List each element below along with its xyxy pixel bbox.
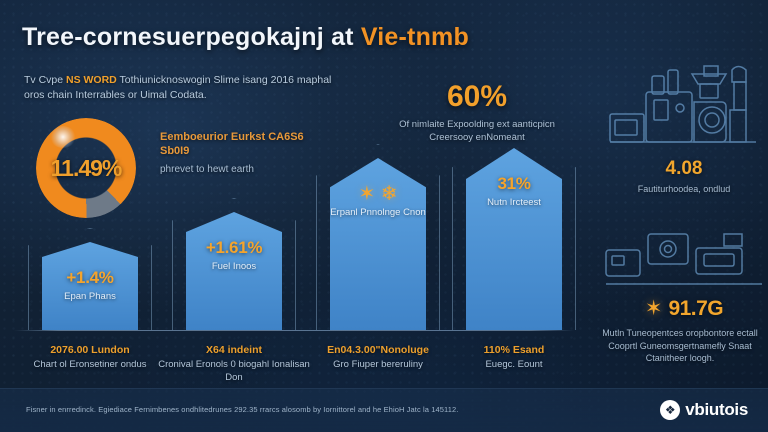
donut-caption: phrevet to hewt earth: [160, 163, 320, 177]
appliance-devices-icon: [604, 232, 764, 294]
subtitle-pre: Tv Cvpe: [24, 74, 66, 86]
stat-60-value: 60%: [392, 80, 562, 114]
right-stat-a: 4.08 Fautiturhoodea, ondlud: [604, 158, 764, 196]
bar-caption-title: 2076.00 Lundon: [12, 344, 168, 356]
bar-column: +1.61%Fuel Inoos: [186, 212, 282, 330]
page-title: Tree-cornesuerpegokajnj at Vie-tnmb: [22, 23, 469, 52]
donut-headline: Eemboeurior Eurkst CA6S6 Sb0I9: [160, 130, 320, 158]
bar-caption: En04.3.00"NonolugeGro Fiuper bereruliny: [300, 344, 456, 371]
bar-caption: X64 indeintCronival Eronols 0 biogahl Io…: [156, 344, 312, 384]
bar-caption-title: En04.3.00"Nonoluge: [300, 344, 456, 356]
bar-caption-title: 110% Esand: [436, 344, 592, 356]
bar-value: +1.61%: [206, 238, 262, 258]
bar-caption-sub: Gro Fiuper bereruliny: [300, 358, 456, 371]
right-stat-b: Mutln Tuneopentces oropbontore ectall Co…: [600, 324, 760, 365]
bar-label: Erpanl Pnnolnge Cnon: [330, 207, 426, 218]
bar-snowflake-icon: ✶ ❄: [358, 184, 397, 204]
right-stat-a-caption: Fautiturhoodea, ondlud: [604, 183, 764, 196]
bar-column: ✶ ❄Erpanl Pnnolnge Cnon: [330, 158, 426, 330]
footer-note: Fisner in enrredinck. Egiediace Fernimbe…: [26, 404, 556, 415]
chart-baseline: [14, 330, 574, 331]
bar-label: Fuel Inoos: [212, 261, 256, 272]
bar-caption-sub: Chart ol Eronsetiner ondus: [12, 358, 168, 371]
page-title-accent: Vie-tnmb: [361, 23, 469, 51]
donut-value: 11.49%: [36, 118, 136, 218]
page-subtitle: Tv Cvpe NS WORD Tothiunicknoswogin Slime…: [24, 73, 354, 103]
donut-chart: 11.49%: [36, 118, 144, 218]
page-title-main: Tree-cornesuerpegokajnj at: [22, 23, 361, 51]
infographic-canvas: Tree-cornesuerpegokajnj at Vie-tnmb Tv C…: [0, 0, 768, 432]
bar-caption: 110% EsandEuegc. Eount: [436, 344, 592, 371]
bar-column: 31%Nutn Ircteest: [466, 148, 562, 330]
stat-60-block: 60% Of nimlaite Expoolding ext aanticpic…: [392, 80, 562, 144]
right-stat-a-value: 4.08: [604, 158, 764, 180]
bar-value: 31%: [497, 174, 530, 194]
logo-wordmark: vbiutois: [685, 400, 748, 420]
right-stat-b-caption: Mutln Tuneopentces oropbontore ectall Co…: [600, 327, 760, 365]
industrial-machinery-icon: [608, 62, 760, 154]
donut-legend: Eemboeurior Eurkst CA6S6 Sb0I9 phrevet t…: [160, 130, 320, 177]
bar-label: Nutn Ircteest: [487, 197, 541, 208]
stat-60-caption: Of nimlaite Expoolding ext aanticpicn Cr…: [392, 118, 562, 144]
right-stat-b-header: ✶ 91.7G: [604, 296, 764, 321]
bar-label: Epan Phans: [64, 291, 116, 302]
bar-column: +1.4%Epan Phans: [42, 242, 138, 330]
brand-logo: ❖ vbiutois: [660, 400, 748, 420]
star-icon: ✶: [645, 296, 663, 321]
logo-badge-icon: ❖: [660, 400, 680, 420]
bar-value: +1.4%: [66, 268, 113, 288]
subtitle-highlight: NS WORD: [66, 74, 117, 86]
bar-caption-sub: Cronival Eronols 0 biogahl Ionalisan Don: [156, 358, 312, 384]
bar-caption: 2076.00 LundonChart ol Eronsetiner ondus: [12, 344, 168, 371]
bar-caption-title: X64 indeint: [156, 344, 312, 356]
bar-caption-sub: Euegc. Eount: [436, 358, 592, 371]
right-stat-b-value: 91.7G: [668, 297, 723, 321]
